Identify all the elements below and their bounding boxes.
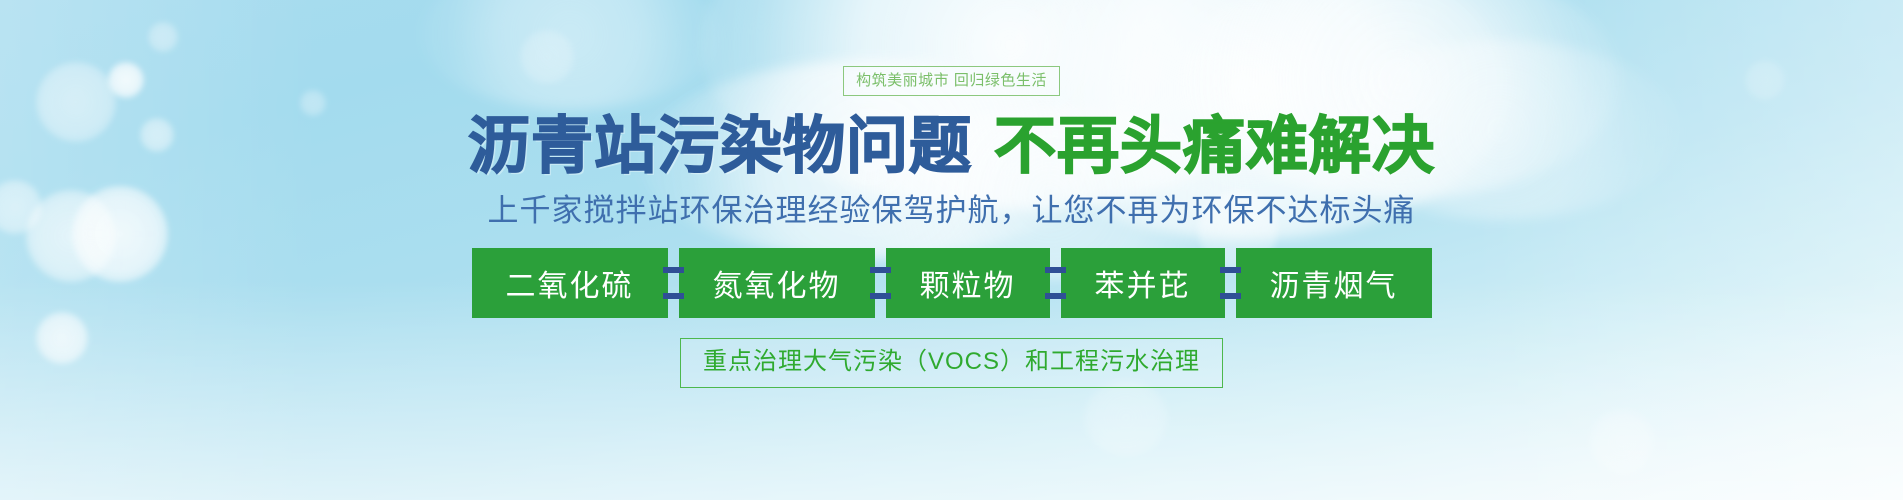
tag-chip[interactable]: 苯并芘 [1061,248,1225,318]
tagline-badge: 构筑美丽城市 回归绿色生活 [843,66,1060,96]
headline-blue-text: 沥青站污染物问题 [468,113,972,180]
tag-separator [668,248,679,318]
tag-separator [875,248,886,318]
tag-separator [1225,248,1236,318]
tag-chip[interactable]: 颗粒物 [886,248,1050,318]
footnote-box: 重点治理大气污染（VOCS）和工程污水治理 [680,338,1223,388]
headline: 沥青站污染物问题 不再头痛难解决 [468,113,1435,180]
tag-chip[interactable]: 氮氧化物 [679,248,875,318]
subheadline: 上千家搅拌站环保治理经验保驾护航，让您不再为环保不达标头痛 [488,192,1416,229]
hero-banner: 构筑美丽城市 回归绿色生活 沥青站污染物问题 不再头痛难解决 上千家搅拌站环保治… [0,0,1903,500]
pollutant-tag-strip: 二氧化硫 氮氧化物 颗粒物 苯并芘 沥青烟气 [472,248,1432,318]
tag-chip[interactable]: 沥青烟气 [1236,248,1432,318]
headline-green-text: 不再头痛难解决 [994,113,1435,180]
tag-separator [1050,248,1061,318]
tag-chip[interactable]: 二氧化硫 [472,248,668,318]
banner-content: 构筑美丽城市 回归绿色生活 沥青站污染物问题 不再头痛难解决 上千家搅拌站环保治… [0,0,1903,500]
